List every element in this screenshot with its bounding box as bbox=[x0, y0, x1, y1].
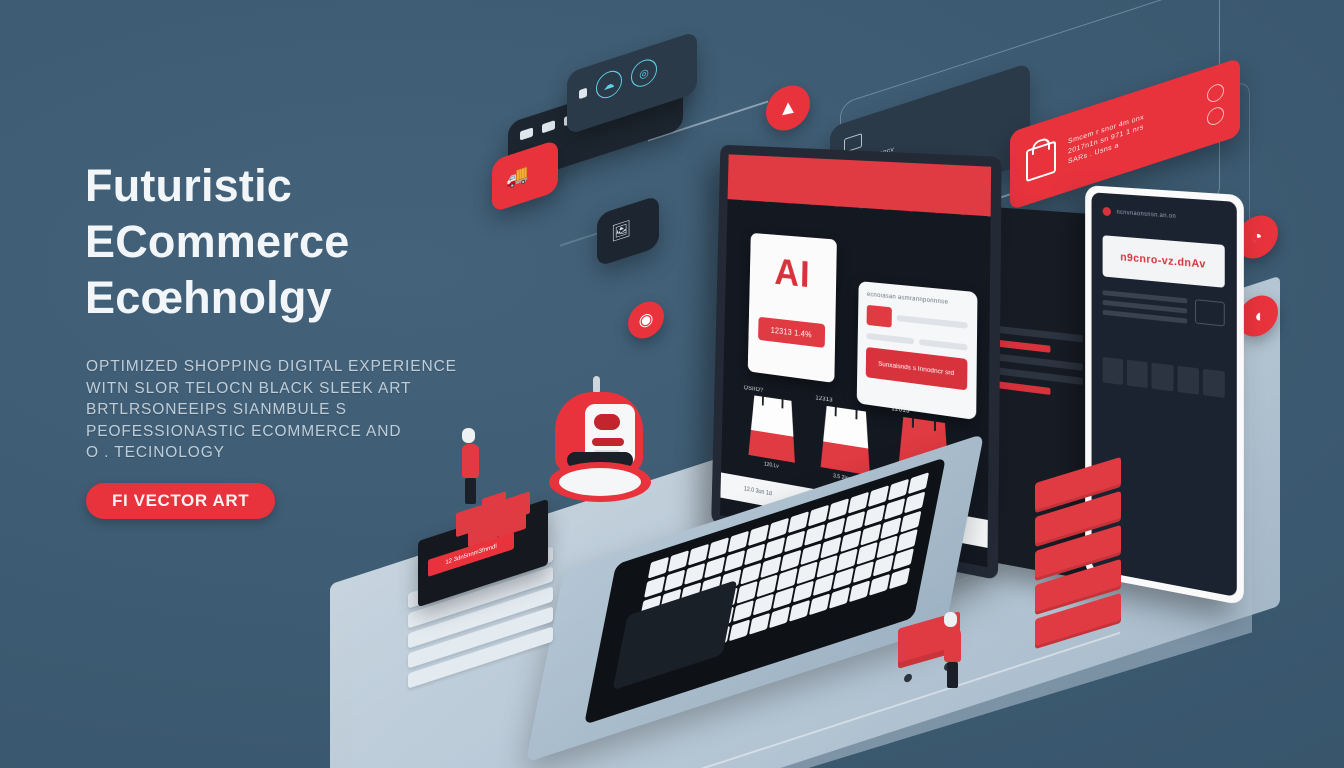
tablet-detail-rows bbox=[1103, 290, 1225, 333]
ai-label: AI bbox=[774, 252, 811, 297]
key[interactable] bbox=[817, 555, 838, 577]
subtitle-paragraph: OPTIMIZED SHOPPING DIGITAL EXPERIENCE WI… bbox=[86, 356, 486, 464]
grid-cell bbox=[1103, 357, 1124, 385]
key[interactable] bbox=[821, 536, 842, 558]
key[interactable] bbox=[773, 587, 794, 609]
key[interactable] bbox=[784, 530, 805, 552]
list-icon bbox=[542, 120, 555, 133]
grid-cell bbox=[1127, 360, 1148, 388]
key[interactable] bbox=[853, 561, 874, 583]
grid-cell bbox=[1152, 363, 1173, 392]
red-box-stack bbox=[1035, 457, 1121, 658]
banner-canvas: Futuristic ECommerce Ecœhnolgy OPTIMIZED… bbox=[0, 0, 1344, 768]
key[interactable] bbox=[797, 562, 818, 584]
tablet-banner: n9cnro-vz.dnAv bbox=[1103, 235, 1225, 288]
cta-button[interactable]: FI VECTOR ART bbox=[86, 483, 275, 519]
ui-card-dark-image[interactable]: 🖼 bbox=[597, 195, 659, 267]
key[interactable] bbox=[861, 523, 882, 545]
key[interactable] bbox=[881, 517, 902, 539]
app-logo-icon bbox=[1103, 207, 1111, 216]
key[interactable] bbox=[833, 568, 854, 590]
key[interactable] bbox=[841, 530, 862, 552]
key[interactable] bbox=[873, 555, 894, 577]
shopping-bag-icon bbox=[821, 405, 871, 475]
key[interactable] bbox=[824, 517, 845, 539]
page-title: Futuristic ECommerce Ecœhnolgy bbox=[85, 158, 515, 326]
checkout-form-card[interactable]: ecnoiasan asmrannponnnse Sunxaisnds s In… bbox=[857, 281, 978, 420]
form-row bbox=[867, 305, 968, 336]
grid-cell bbox=[1177, 366, 1199, 395]
badge-location[interactable]: ◉ bbox=[628, 298, 664, 342]
robot-mouth bbox=[592, 438, 624, 446]
shopper-person bbox=[462, 428, 479, 504]
key[interactable] bbox=[781, 549, 802, 571]
person-head bbox=[462, 428, 475, 443]
key[interactable] bbox=[684, 563, 705, 585]
shopping-bag-icon bbox=[1026, 140, 1056, 182]
key[interactable] bbox=[760, 556, 781, 578]
badge-alert[interactable]: ▲ bbox=[766, 81, 810, 134]
content-line bbox=[918, 339, 967, 351]
product-tag: OSIIO? bbox=[744, 385, 803, 399]
person-body bbox=[462, 444, 479, 478]
key[interactable] bbox=[733, 600, 754, 622]
key[interactable] bbox=[804, 524, 825, 546]
image-icon: 🖼 bbox=[597, 195, 659, 249]
tablet-header-text: ncnvnaonsnsn.an.on bbox=[1117, 209, 1177, 219]
shopping-bag-icon bbox=[748, 395, 796, 463]
subcopy-line-2: WITN SLOR TELOCN BLACK SLEEK ART bbox=[86, 378, 486, 400]
ai-storefront-card[interactable]: AI 12313 1.4% bbox=[748, 233, 837, 383]
thumbnail-placeholder bbox=[1195, 299, 1225, 326]
person-head bbox=[944, 612, 957, 627]
key[interactable] bbox=[724, 550, 745, 572]
key[interactable] bbox=[744, 543, 765, 565]
subcopy-line-1: OPTIMIZED SHOPPING DIGITAL EXPERIENCE bbox=[86, 356, 486, 378]
key[interactable] bbox=[777, 568, 798, 590]
key[interactable] bbox=[757, 575, 778, 597]
storefront-awning bbox=[711, 145, 1001, 219]
list-icon bbox=[520, 127, 533, 140]
ai-card-button[interactable]: 12313 1.4% bbox=[758, 317, 825, 348]
tablet-detail-col bbox=[1103, 290, 1188, 329]
key[interactable] bbox=[740, 562, 761, 584]
list-icon bbox=[579, 87, 587, 99]
ui-card-red-delivery[interactable]: 🚚 bbox=[492, 139, 558, 212]
key[interactable] bbox=[864, 504, 885, 526]
key[interactable] bbox=[813, 574, 834, 596]
person-legs bbox=[465, 478, 476, 504]
key[interactable] bbox=[801, 543, 822, 565]
circle-button[interactable] bbox=[1207, 82, 1224, 105]
tablet-grid bbox=[1103, 357, 1225, 398]
person-legs bbox=[947, 662, 958, 688]
content-line bbox=[897, 315, 968, 329]
form-submit-button[interactable]: Sunxaisnds s Innodncr srd bbox=[866, 347, 968, 390]
ai-assistant-robot bbox=[545, 378, 655, 503]
headline-line-3: Ecœhnolgy bbox=[85, 270, 515, 326]
notification-controls[interactable] bbox=[1207, 82, 1224, 128]
target-icon: ◎ bbox=[631, 56, 657, 90]
key[interactable] bbox=[704, 556, 725, 578]
headline-line-1: Futuristic bbox=[85, 158, 515, 214]
key[interactable] bbox=[644, 576, 665, 598]
notification-text: Smcem r snor 4m onx 2017n1n sn 971 1 nrs… bbox=[1068, 113, 1144, 168]
key[interactable] bbox=[793, 581, 814, 603]
subcopy-line-3: BRTLRSONEEIPS SIANMBULE S bbox=[86, 399, 486, 421]
robot-base-highlight bbox=[559, 468, 641, 496]
color-swatch[interactable] bbox=[867, 305, 892, 328]
key[interactable] bbox=[737, 581, 758, 603]
grid-cell bbox=[1203, 369, 1225, 398]
person-body bbox=[944, 628, 961, 662]
subcopy-line-5: O . TECINOLOGY bbox=[86, 442, 486, 464]
key[interactable] bbox=[857, 542, 878, 564]
robot-eye bbox=[594, 414, 620, 430]
subcopy-line-4: PEOFESSIONASTIC ECOMMERCE AND bbox=[86, 421, 486, 443]
key[interactable] bbox=[764, 537, 785, 559]
delivery-worker bbox=[944, 612, 961, 688]
key[interactable] bbox=[844, 511, 865, 533]
footer-item: 12.0 3un 1d bbox=[744, 486, 772, 497]
key[interactable] bbox=[664, 569, 685, 591]
key[interactable] bbox=[837, 549, 858, 571]
product-item[interactable]: OSIIO? 120.Lv bbox=[742, 385, 803, 473]
tablet-header: ncnvnaonsnsn.an.on bbox=[1103, 207, 1225, 225]
headline-line-2: ECommerce bbox=[85, 214, 515, 270]
content-line bbox=[866, 333, 913, 345]
circle-button[interactable] bbox=[1207, 105, 1224, 128]
key[interactable] bbox=[753, 594, 774, 616]
key[interactable] bbox=[884, 498, 905, 520]
cloud-icon: ☁ bbox=[596, 67, 622, 101]
key[interactable] bbox=[877, 536, 898, 558]
